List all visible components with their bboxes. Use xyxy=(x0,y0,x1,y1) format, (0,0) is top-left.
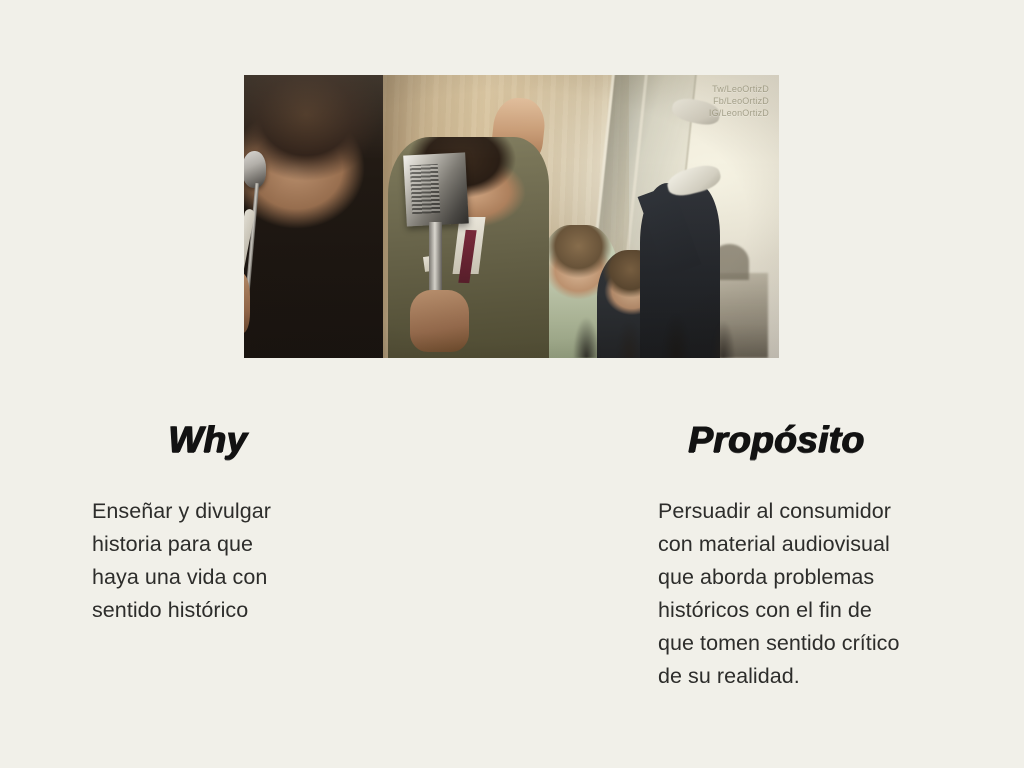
hand-holding-microphone xyxy=(410,290,469,352)
column-why: Why Enseñar y divulgar historia para que… xyxy=(92,418,472,627)
photo-image xyxy=(244,75,779,358)
historical-photo: Tw/LeoOrtizD Fb/LeoOrtizD IG/LeonOrtizD xyxy=(244,75,779,358)
column-proposito: Propósito Persuadir al consumidor con ma… xyxy=(658,418,988,693)
slide-canvas: Tw/LeoOrtizD Fb/LeoOrtizD IG/LeonOrtizD … xyxy=(0,0,1024,768)
body-why: Enseñar y divulgar historia para que hay… xyxy=(92,462,472,627)
photo-watermark: Tw/LeoOrtizD Fb/LeoOrtizD IG/LeonOrtizD xyxy=(709,83,769,119)
reporter-foreground xyxy=(244,75,383,358)
watermark-line-facebook: Fb/LeoOrtizD xyxy=(709,95,769,107)
watermark-line-twitter: Tw/LeoOrtizD xyxy=(709,83,769,95)
heading-proposito: Propósito xyxy=(658,418,988,462)
crowd-silhouettes xyxy=(565,313,779,358)
body-proposito: Persuadir al consumidor con material aud… xyxy=(658,462,988,693)
ribbon-microphone xyxy=(403,153,468,227)
heading-why: Why xyxy=(92,418,472,462)
watermark-line-instagram: IG/LeonOrtizD xyxy=(709,107,769,119)
